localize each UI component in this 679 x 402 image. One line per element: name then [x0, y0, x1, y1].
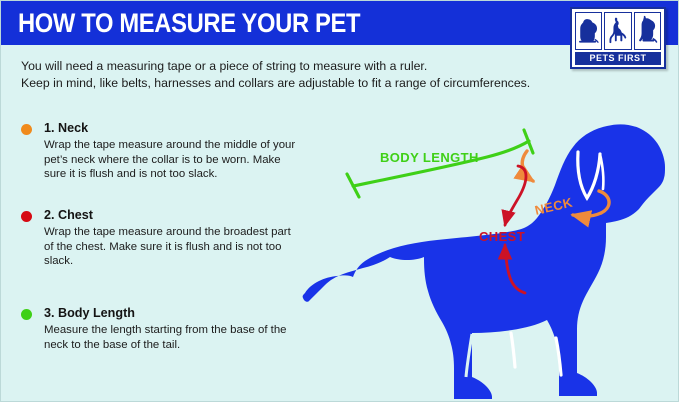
- intro-line-2: Keep in mind, like belts, harnesses and …: [21, 75, 641, 92]
- dog-measurement-diagram: BODY LENGTH NECK CHEST: [297, 105, 679, 402]
- step-neck: 1. Neck Wrap the tape measure around the…: [21, 121, 301, 182]
- step-chest-title: 2. Chest: [44, 208, 301, 223]
- dog-sitting-icon: [575, 12, 602, 50]
- bullet-neck-icon: [21, 124, 32, 135]
- step-neck-description: Wrap the tape measure around the middle …: [44, 138, 301, 182]
- body-length-label: BODY LENGTH: [380, 150, 479, 165]
- logo-dog-panels: [575, 12, 661, 50]
- bullet-chest-icon: [21, 211, 32, 222]
- step-chest: 2. Chest Wrap the tape measure around th…: [21, 208, 301, 269]
- chest-label: CHEST: [479, 229, 525, 244]
- step-body-length-title: 3. Body Length: [44, 306, 301, 321]
- step-body-length: 3. Body Length Measure the length starti…: [21, 306, 301, 352]
- infographic-page: HOW TO MEASURE YOUR PET P: [0, 0, 679, 402]
- intro-text: You will need a measuring tape or a piec…: [21, 58, 641, 92]
- dog-silhouette-icon: [303, 124, 665, 399]
- step-chest-description: Wrap the tape measure around the broades…: [44, 225, 301, 269]
- dog-standing-icon: [604, 12, 631, 50]
- page-title: HOW TO MEASURE YOUR PET: [18, 9, 360, 37]
- step-neck-title: 1. Neck: [44, 121, 301, 136]
- step-body-length-description: Measure the length starting from the bas…: [44, 323, 301, 352]
- intro-line-1: You will need a measuring tape or a piec…: [21, 58, 641, 75]
- bullet-body-length-icon: [21, 309, 32, 320]
- dog-sitting-alert-icon: [634, 12, 661, 50]
